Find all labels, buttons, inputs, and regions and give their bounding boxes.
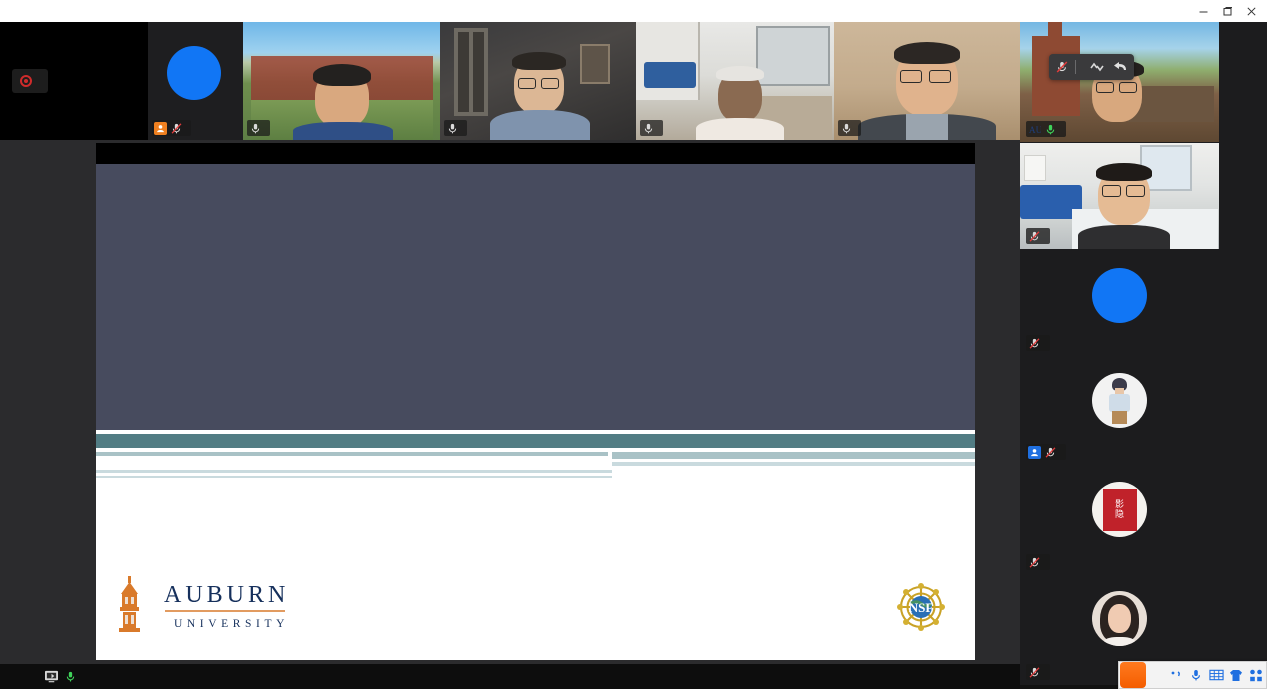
sogou-ime-toolbar[interactable] (1118, 661, 1267, 689)
color-bar-red (446, 422, 490, 434)
ime-keyboard-icon[interactable] (1206, 662, 1226, 688)
window-controls (1191, 0, 1263, 22)
collapse-arrow-icon[interactable] (1112, 57, 1130, 77)
host-icon (154, 122, 167, 135)
slide-color-bars (299, 422, 490, 434)
tile-label (1026, 664, 1050, 680)
video-tile-zhaoxiaohui[interactable] (636, 22, 834, 140)
sidebar-tile-liuzhi[interactable]: 影隐 (1020, 469, 1219, 575)
mic-active-icon (64, 670, 79, 683)
record-icon (20, 75, 32, 87)
mic-muted-icon (840, 122, 853, 135)
avatar (1092, 268, 1147, 323)
mic-muted-icon (170, 122, 183, 135)
ime-voice-input-icon[interactable] (1186, 662, 1206, 688)
nsf-logo: NSF (893, 579, 949, 635)
auburn-university-logo: AUBURN UNIVERSITY (112, 572, 292, 634)
host-badge-icon: AU (1028, 123, 1041, 136)
participant-filmstrip (0, 22, 1020, 140)
avatar (167, 46, 221, 100)
sogou-logo-icon[interactable] (1120, 662, 1146, 688)
mic-muted-icon (1044, 446, 1057, 459)
tencent-meeting-window: AUBURN UNIVERSITY (0, 0, 1267, 689)
avatar: 影隐 (1092, 482, 1147, 537)
screen-share-icon (44, 670, 59, 683)
slide-deco-line-5 (96, 476, 612, 478)
svg-text:AU: AU (1029, 126, 1041, 136)
chevron-up-down-icon[interactable] (1088, 57, 1106, 77)
minimize-icon[interactable] (1191, 0, 1215, 22)
mic-muted-icon (1055, 60, 1069, 74)
screen-share-status-bar (0, 664, 1020, 689)
ime-language-mode[interactable] (1146, 662, 1166, 688)
slide-deco-line-3 (612, 462, 975, 466)
title-bar (0, 0, 1267, 22)
slide-deco-line-1 (612, 452, 975, 459)
mic-muted-icon (249, 122, 262, 135)
mic-muted-icon (1028, 230, 1041, 243)
color-bar-blue (299, 422, 343, 434)
tile-label (838, 120, 861, 136)
sidebar-tile-maoshiwen[interactable]: AU (1020, 22, 1219, 142)
slide-deco-line-4 (96, 470, 612, 473)
tile-label (1026, 444, 1066, 460)
tile-label (1026, 228, 1050, 244)
divider (1075, 60, 1076, 74)
avatar (1092, 373, 1147, 428)
tile-label (640, 120, 663, 136)
maximize-icon[interactable] (1215, 0, 1239, 22)
tile-label (152, 120, 191, 136)
svg-text:AUBURN: AUBURN (164, 582, 289, 608)
ime-apps-icon[interactable] (1246, 662, 1266, 688)
slide-deco-line-2 (96, 452, 608, 456)
tile-label: AU (1026, 121, 1066, 137)
sidebar-tile-lingzhuang[interactable] (1020, 359, 1219, 465)
mic-muted-icon (1028, 556, 1041, 569)
color-bar-orange (397, 422, 441, 434)
tile-label (1026, 554, 1050, 570)
tile-label (1026, 335, 1050, 351)
mic-muted-icon (1028, 337, 1041, 350)
color-bar-green (348, 422, 392, 434)
tile-label (247, 120, 270, 136)
mic-muted-icon (446, 122, 459, 135)
mic-muted-icon (642, 122, 655, 135)
mic-active-icon (1044, 123, 1057, 136)
slide-letterbox (96, 143, 975, 164)
sidebar-tile-songlingyang[interactable] (1020, 143, 1219, 249)
svg-text:UNIVERSITY: UNIVERSITY (174, 618, 289, 630)
avatar (1092, 591, 1147, 646)
participant-sidebar: AU (1020, 22, 1267, 667)
ime-skin-icon[interactable] (1226, 662, 1246, 688)
slide-teal-band (96, 434, 975, 448)
video-tile-shen[interactable] (440, 22, 636, 140)
presentation-slide[interactable]: AUBURN UNIVERSITY (96, 164, 975, 660)
recording-badge (12, 69, 48, 93)
video-tile-sunrina[interactable] (148, 22, 243, 140)
video-tile-nirwan[interactable] (834, 22, 1020, 140)
nsf-text: NSF (909, 600, 934, 615)
speaking-now-banner (1049, 54, 1134, 80)
mic-muted-icon (1028, 666, 1041, 679)
ime-punctuation-icon[interactable] (1166, 662, 1186, 688)
close-icon[interactable] (1239, 0, 1263, 22)
slide-header-panel (96, 164, 975, 430)
video-tile-fengye-hu[interactable] (243, 22, 440, 140)
sidebar-tile-profabbas[interactable] (1020, 250, 1219, 356)
host-icon (1028, 446, 1041, 459)
tile-label (444, 120, 467, 136)
